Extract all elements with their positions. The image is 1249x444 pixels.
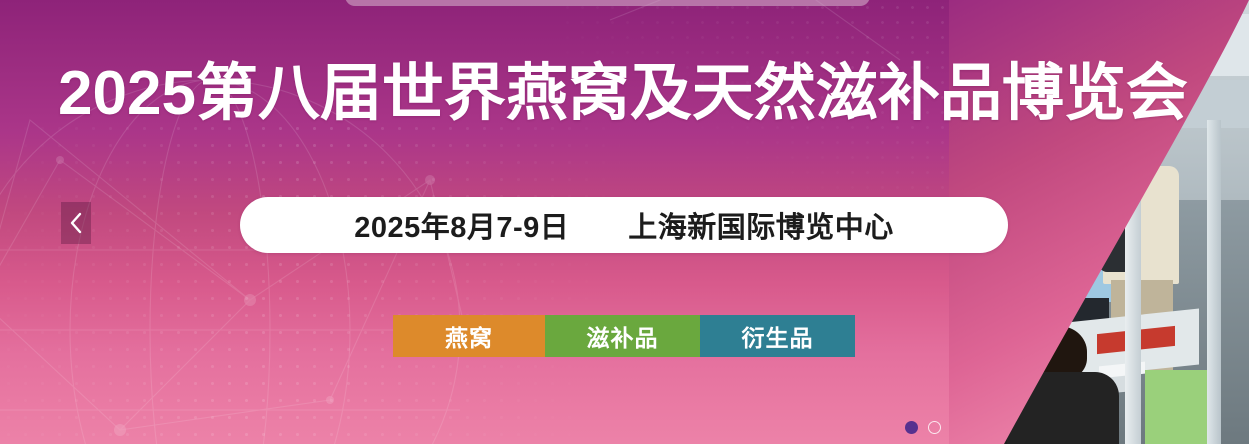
carousel-dot-2[interactable] — [928, 421, 941, 434]
category-tag-yanshengpin[interactable]: 衍生品 — [700, 315, 855, 357]
carousel-dots[interactable] — [905, 421, 941, 434]
carousel-prev-button[interactable] — [61, 202, 91, 244]
event-date-venue-text: 2025年8月7-9日 上海新国际博览中心 — [354, 204, 894, 246]
carousel-dot-1[interactable] — [905, 421, 918, 434]
top-cutoff-strip — [345, 0, 870, 6]
event-info-pill: 2025年8月7-9日 上海新国际博览中心 — [240, 197, 1008, 253]
category-tag-yanwo[interactable]: 燕窝 — [393, 315, 545, 357]
promo-banner-carousel[interactable]: 2025第八届世界燕窝及天然滋补品博览会 2025年8月7-9日 上海新国际博览… — [0, 0, 1249, 444]
chevron-left-icon — [69, 212, 83, 234]
category-tag-group: 燕窝 滋补品 衍生品 — [393, 315, 855, 357]
dot-pattern-decor — [0, 120, 620, 444]
banner-title: 2025第八届世界燕窝及天然滋补品博览会 — [58, 58, 1188, 130]
category-tag-zibupin[interactable]: 滋补品 — [545, 315, 700, 357]
